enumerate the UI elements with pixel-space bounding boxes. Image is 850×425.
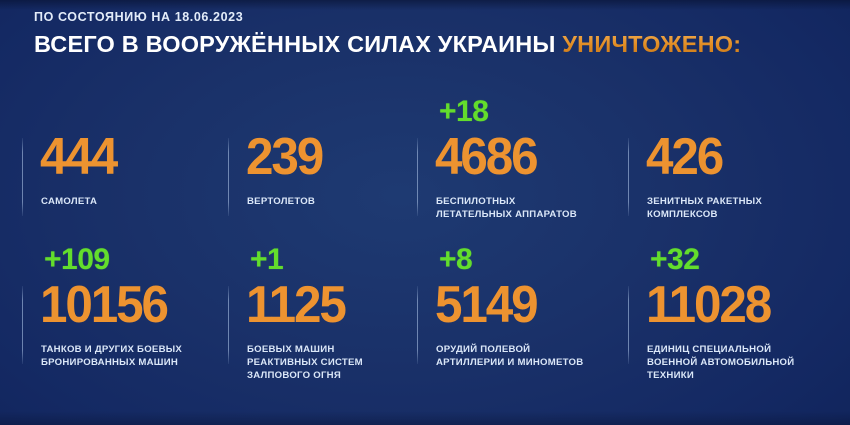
cell-divider — [417, 138, 418, 216]
increment-badge: +32 — [650, 245, 699, 275]
stat-cell-artillery: +8 5149 ОРУДИЙ ПОЛЕВОЙ АРТИЛЛЕРИИ И МИНО… — [417, 244, 628, 392]
stat-cell-military-vehicles: +32 11028 ЕДИНИЦ СПЕЦИАЛЬНОЙ ВОЕННОЙ АВТ… — [628, 244, 838, 392]
stat-label: ОРУДИЙ ПОЛЕВОЙ АРТИЛЛЕРИИ И МИНОМЕТОВ — [436, 344, 583, 370]
stat-value: 10156 — [40, 282, 167, 330]
stat-value: 11028 — [646, 282, 770, 330]
header: ПО СОСТОЯНИЮ НА 18.06.2023 ВСЕГО В ВООРУ… — [34, 10, 741, 57]
increment-badge: +109 — [44, 245, 110, 275]
increment-badge: +8 — [439, 245, 472, 275]
stats-grid: 444 САМОЛЕТА 239 ВЕРТОЛЕТОВ +18 4686 БЕС… — [0, 96, 850, 392]
stat-label: ТАНКОВ И ДРУГИХ БОЕВЫХ БРОНИРОВАННЫХ МАШ… — [41, 344, 182, 370]
stat-cell-helicopters: 239 ВЕРТОЛЕТОВ — [228, 96, 417, 244]
stat-value: 444 — [40, 134, 116, 182]
cell-divider — [22, 286, 23, 364]
cell-divider — [628, 286, 629, 364]
stat-label: ЗЕНИТНЫХ РАКЕТНЫХ КОМПЛЕКСОВ — [647, 196, 762, 222]
stat-label: БОЕВЫХ МАШИН РЕАКТИВНЫХ СИСТЕМ ЗАЛПОВОГО… — [247, 344, 363, 382]
cell-divider — [228, 138, 229, 216]
stats-row-1: 444 САМОЛЕТА 239 ВЕРТОЛЕТОВ +18 4686 БЕС… — [0, 96, 850, 244]
cell-divider — [22, 138, 23, 216]
page-title-accent: УНИЧТОЖЕНО: — [562, 31, 741, 57]
stat-label: ВЕРТОЛЕТОВ — [247, 196, 315, 209]
cell-divider — [628, 138, 629, 216]
stat-label: САМОЛЕТА — [41, 196, 97, 209]
stats-row-2: +109 10156 ТАНКОВ И ДРУГИХ БОЕВЫХ БРОНИР… — [0, 244, 850, 392]
stat-value: 1125 — [246, 282, 345, 330]
stat-label: ЕДИНИЦ СПЕЦИАЛЬНОЙ ВОЕННОЙ АВТОМОБИЛЬНОЙ… — [647, 344, 794, 382]
stat-cell-mlrs: +1 1125 БОЕВЫХ МАШИН РЕАКТИВНЫХ СИСТЕМ З… — [228, 244, 417, 392]
cell-divider — [228, 286, 229, 364]
stat-value: 239 — [246, 134, 322, 182]
page-title: ВСЕГО В ВООРУЖЁННЫХ СИЛАХ УКРАИНЫ УНИЧТО… — [34, 33, 741, 57]
increment-badge: +1 — [250, 245, 283, 275]
stat-cell-uav: +18 4686 БЕСПИЛОТНЫХ ЛЕТАТЕЛЬНЫХ АППАРАТ… — [417, 96, 628, 244]
stat-cell-sam-systems: 426 ЗЕНИТНЫХ РАКЕТНЫХ КОМПЛЕКСОВ — [628, 96, 838, 244]
page-title-main: ВСЕГО В ВООРУЖЁННЫХ СИЛАХ УКРАИНЫ — [34, 31, 556, 57]
stat-value: 5149 — [435, 282, 537, 330]
increment-badge: +18 — [439, 97, 488, 127]
cell-divider — [417, 286, 418, 364]
stat-cell-aircraft: 444 САМОЛЕТА — [22, 96, 228, 244]
status-date-line: ПО СОСТОЯНИЮ НА 18.06.2023 — [34, 10, 741, 24]
stat-cell-tanks: +109 10156 ТАНКОВ И ДРУГИХ БОЕВЫХ БРОНИР… — [22, 244, 228, 392]
stat-value: 4686 — [435, 134, 537, 182]
stat-label: БЕСПИЛОТНЫХ ЛЕТАТЕЛЬНЫХ АППАРАТОВ — [436, 196, 577, 222]
stat-value: 426 — [646, 134, 722, 182]
infographic-root: ПО СОСТОЯНИЮ НА 18.06.2023 ВСЕГО В ВООРУ… — [0, 0, 850, 425]
